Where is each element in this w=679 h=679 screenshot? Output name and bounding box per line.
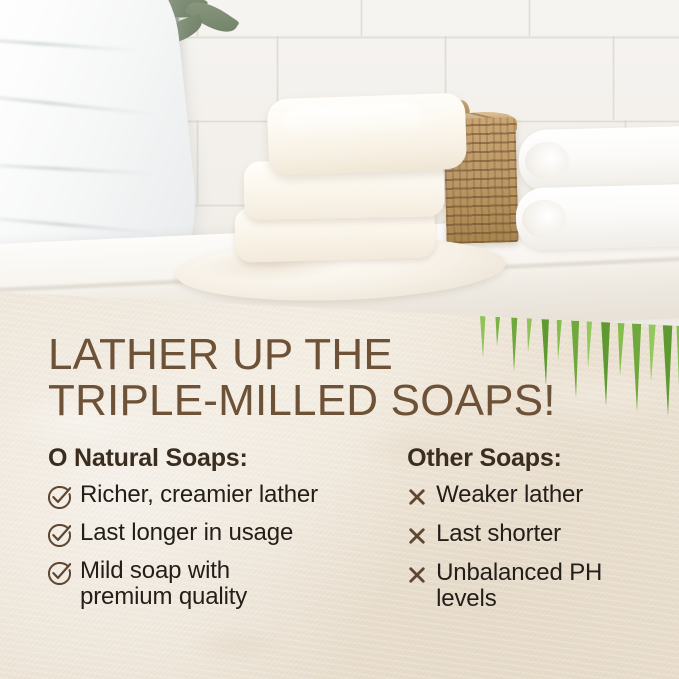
list-item-label: Unbalanced PH levels <box>436 560 602 612</box>
list-item: Weaker lather <box>407 482 648 510</box>
check-circle-icon <box>48 486 71 509</box>
rolled-towel-top <box>518 126 679 193</box>
column-heading-other: Other Soaps: <box>407 444 648 473</box>
comparison-section: O Natural Soaps: Richer, creamier lather <box>48 444 648 623</box>
check-circle-icon <box>48 524 71 547</box>
list-item-label: Weaker lather <box>436 482 583 508</box>
ad-creative-canvas: LATHER UP THE TRIPLE-MILLED SOAPS! O Nat… <box>0 0 679 679</box>
list-item: Unbalanced PH levels <box>407 560 648 612</box>
x-mark-icon <box>407 487 427 510</box>
list-item: Last shorter <box>407 521 648 549</box>
check-circle-icon <box>48 562 71 585</box>
rolled-towel-bottom <box>515 183 679 250</box>
list-item: Richer, creamier lather <box>48 482 397 509</box>
list-item: Mild soap with premium quality <box>48 558 397 610</box>
soap-bar-top <box>267 93 468 176</box>
page-title: LATHER UP THE TRIPLE-MILLED SOAPS! <box>48 332 608 424</box>
list-item: Last longer in usage <box>48 520 397 547</box>
list-item-label: Last shorter <box>436 521 561 547</box>
x-mark-icon <box>407 565 427 588</box>
list-item-label: Mild soap with premium quality <box>80 558 247 610</box>
hero-photo <box>0 0 679 330</box>
list-item-label: Last longer in usage <box>80 520 293 546</box>
column-heading-natural: O Natural Soaps: <box>48 444 397 473</box>
list-item-label: Richer, creamier lather <box>80 482 318 508</box>
comparison-column-other: Other Soaps: Weaker lather Last shorter <box>407 444 648 623</box>
x-mark-icon <box>407 526 427 549</box>
comparison-column-natural: O Natural Soaps: Richer, creamier lather <box>48 444 397 623</box>
